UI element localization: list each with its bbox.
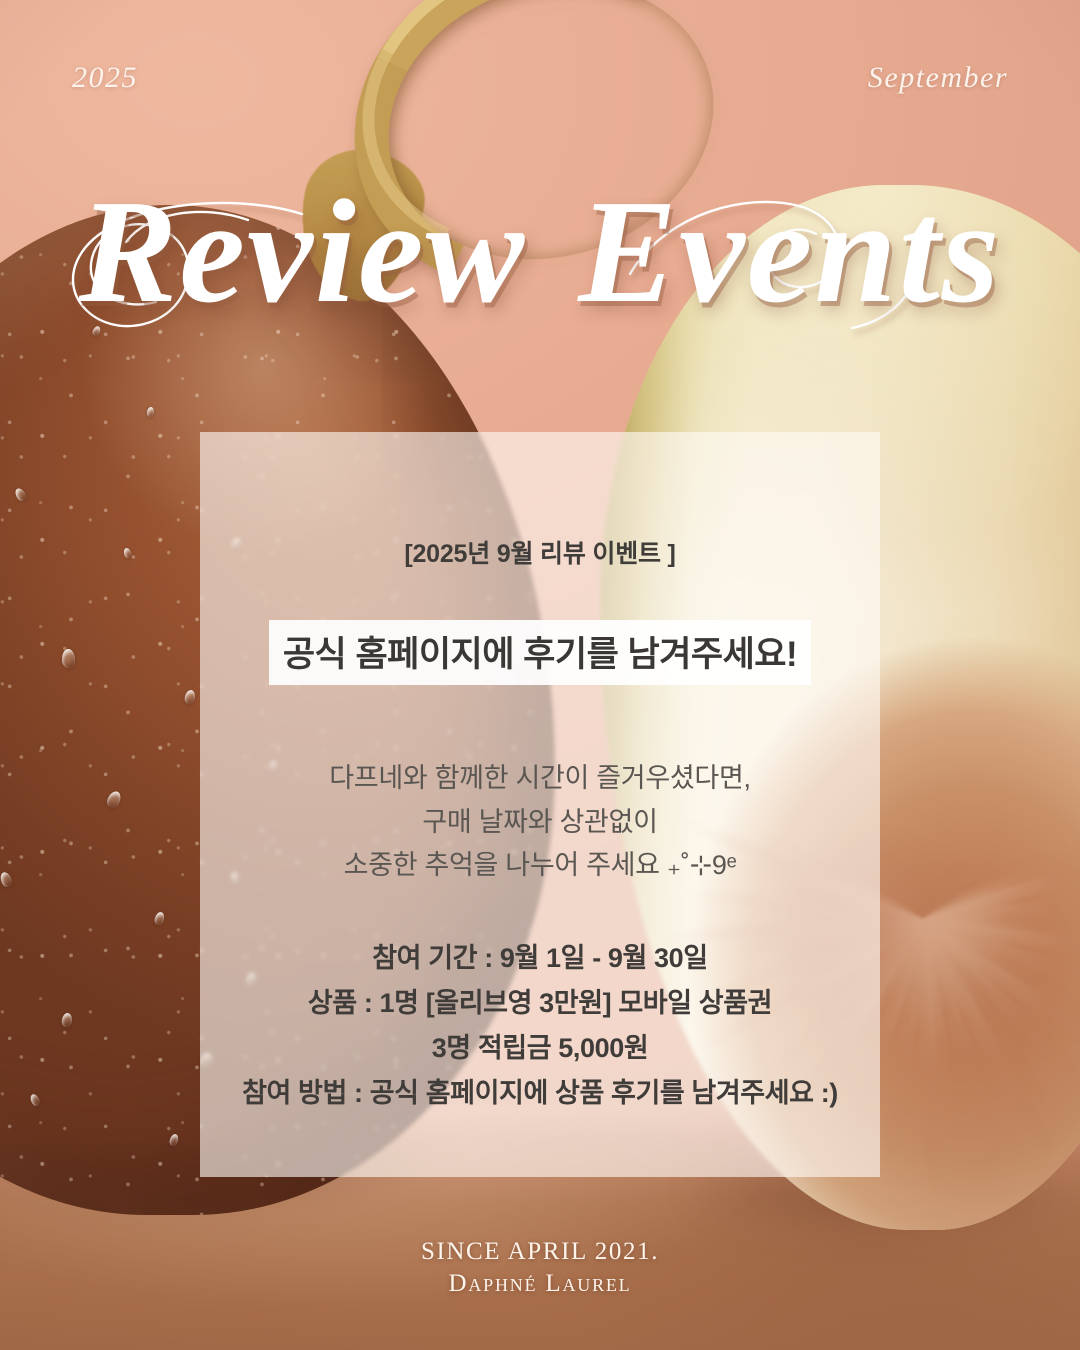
page-title: ReviewEvents: [0, 178, 1080, 326]
detail-line: 3명 적립금 5,000원: [242, 1026, 838, 1071]
title-word-events: Events: [578, 170, 1001, 334]
event-details: 참여 기간 : 9월 1일 - 9월 30일 상품 : 1명 [올리브영 3만원…: [242, 936, 838, 1115]
detail-line: 상품 : 1명 [올리브영 3만원] 모바일 상품권: [242, 981, 838, 1026]
detail-line: 참여 방법 : 공식 홈페이지에 상품 후기를 남겨주세요 :): [242, 1071, 838, 1116]
header-month: September: [868, 61, 1008, 95]
headline-highlight: 공식 홈페이지에 후기를 남겨주세요!: [269, 620, 811, 685]
footer-branding: SINCE APRIL 2021. Daphné Laurel: [0, 1238, 1080, 1298]
body-line: 구매 날짜와 상관없이: [329, 801, 750, 845]
body-line: 다프네와 함께한 시간이 즐거우셨다면,: [329, 757, 750, 801]
header-row: 2025 September: [0, 56, 1080, 100]
footer-since: SINCE APRIL 2021.: [0, 1238, 1080, 1266]
event-body: 다프네와 함께한 시간이 즐거우셨다면, 구매 날짜와 상관없이 소중한 추억을…: [329, 757, 750, 888]
event-bracket-label: [2025년 9월 리뷰 이벤트 ]: [404, 534, 675, 570]
title-word-review: Review: [79, 170, 527, 334]
body-line: 소중한 추억을 나누어 주세요 ₊˚⊹9ᵉ: [329, 844, 750, 888]
footer-brand-name: Daphné Laurel: [0, 1270, 1080, 1298]
header-year: 2025: [72, 61, 138, 95]
event-headline: 공식 홈페이지에 후기를 남겨주세요!: [283, 626, 797, 677]
content-panel: [2025년 9월 리뷰 이벤트 ] 공식 홈페이지에 후기를 남겨주세요! 다…: [200, 432, 880, 1177]
detail-line: 참여 기간 : 9월 1일 - 9월 30일: [242, 936, 838, 981]
promo-poster: 2025 September ReviewEvents [2025년 9월 리뷰…: [0, 0, 1080, 1350]
water-droplet: [62, 649, 76, 668]
